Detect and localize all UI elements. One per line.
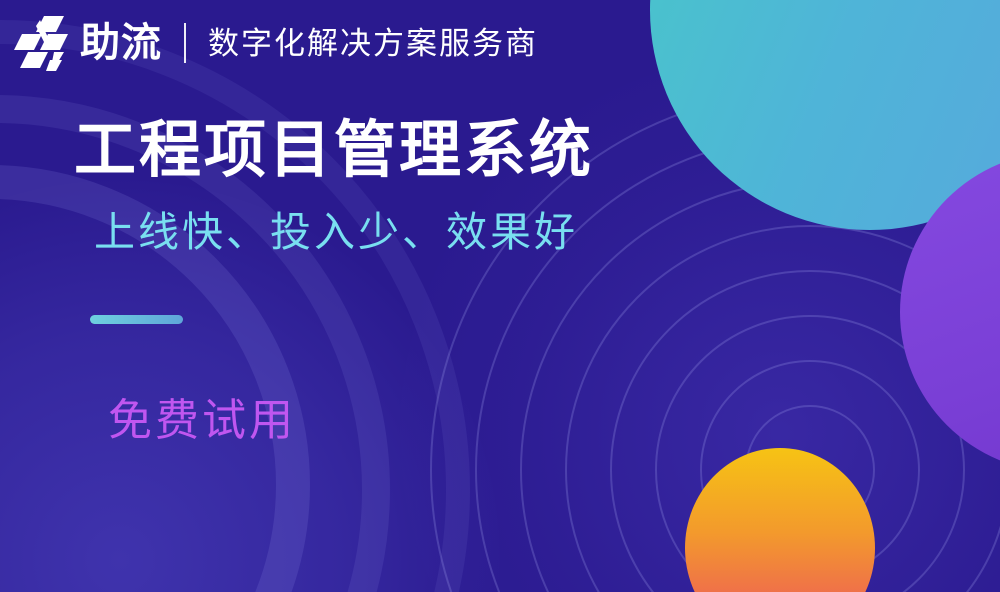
hero-block: 工程项目管理系统 上线快、投入少、效果好 免费试用 (74, 118, 594, 443)
header-tagline: 数字化解决方案服务商 (208, 28, 538, 59)
hero-subtitle: 上线快、投入少、效果好 (74, 185, 594, 255)
zhuliu-flow-logo-icon (14, 14, 74, 72)
brand-name: 助流 (80, 23, 162, 63)
page-title: 工程项目管理系统 (74, 118, 594, 185)
header-divider (184, 23, 186, 63)
promo-banner: 助流 数字化解决方案服务商 工程项目管理系统 上线快、投入少、效果好 免费试用 (0, 0, 1000, 592)
banner-header: 助流 数字化解决方案服务商 (14, 12, 538, 74)
free-trial-cta[interactable]: 免费试用 (108, 399, 296, 443)
accent-divider-bar (90, 315, 183, 324)
